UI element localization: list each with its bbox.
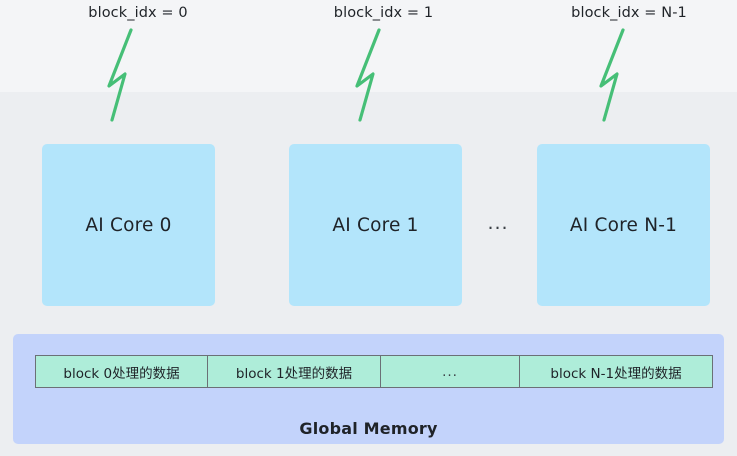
ai-core-label-n-1: AI Core N-1 [570, 215, 677, 236]
memory-block-cell-n-1[interactable]: block N-1处理的数据 [520, 356, 712, 387]
lightning-bolt-icon-n-1 [592, 27, 640, 123]
memory-block-cell-0[interactable]: block 0处理的数据 [36, 356, 208, 387]
diagram-canvas: block_idx = 0 block_idx = 1 block_idx = … [0, 0, 737, 456]
global-memory-block-row: block 0处理的数据 block 1处理的数据 ... block N-1处… [35, 355, 713, 388]
block-idx-label-1: block_idx = 1 [318, 5, 449, 21]
block-idx-label-n-1: block_idx = N-1 [560, 5, 698, 21]
block-idx-label-0: block_idx = 0 [70, 5, 206, 21]
ai-core-box-0[interactable]: AI Core 0 [42, 144, 215, 306]
lightning-bolt-icon-0 [100, 27, 148, 123]
memory-block-cell-1[interactable]: block 1处理的数据 [208, 356, 381, 387]
memory-block-cell-ellipsis: ... [381, 356, 520, 387]
ai-core-box-1[interactable]: AI Core 1 [289, 144, 462, 306]
global-memory-title: Global Memory [13, 419, 724, 438]
lightning-bolt-icon-1 [348, 27, 396, 123]
ai-core-label-0: AI Core 0 [85, 215, 171, 236]
global-memory-panel: block 0处理的数据 block 1处理的数据 ... block N-1处… [13, 334, 724, 444]
ai-core-box-n-1[interactable]: AI Core N-1 [537, 144, 710, 306]
ai-core-ellipsis: ... [470, 212, 526, 234]
ai-core-label-1: AI Core 1 [332, 215, 418, 236]
